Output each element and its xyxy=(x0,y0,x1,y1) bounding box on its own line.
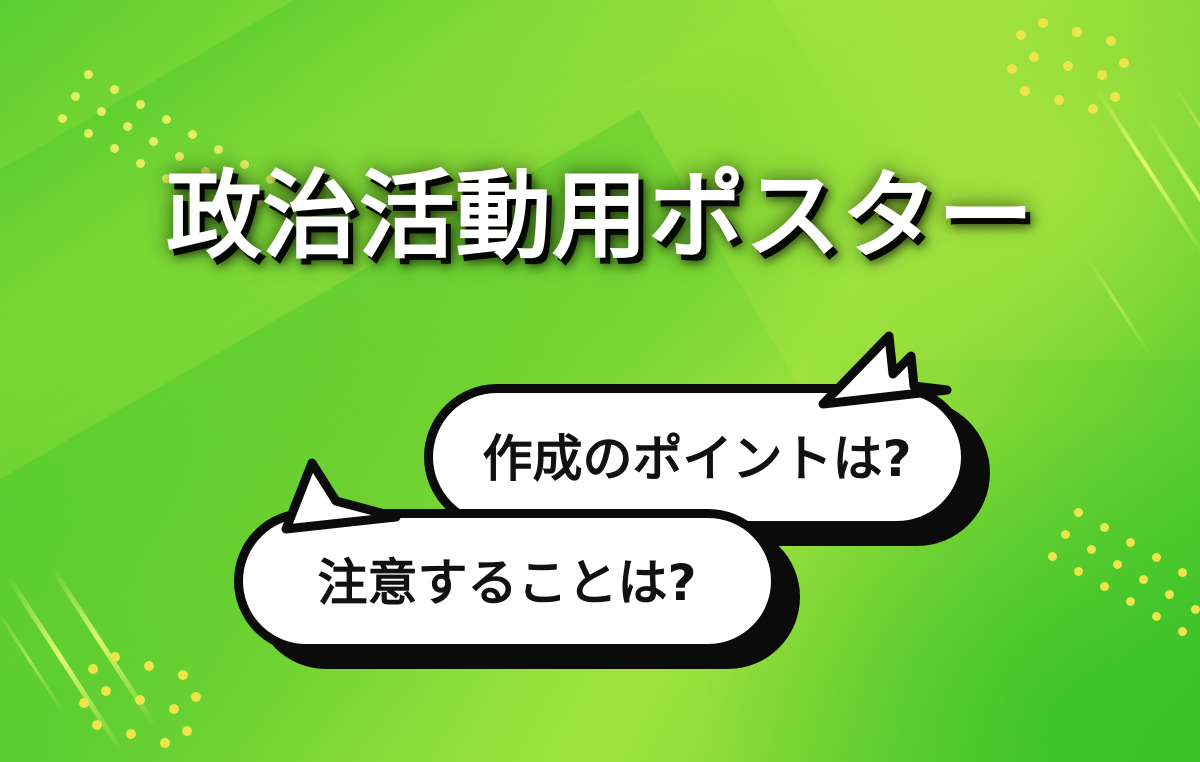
decorative-dot xyxy=(1152,553,1161,562)
decorative-dot xyxy=(136,159,145,168)
decorative-dot xyxy=(1087,545,1096,554)
decorative-dot xyxy=(110,85,119,94)
decorative-dot xyxy=(1074,567,1083,576)
decorative-dot xyxy=(71,92,80,101)
bubble-2-label: 注意することは? xyxy=(317,543,696,615)
decorative-dot xyxy=(136,100,145,109)
decorative-dot xyxy=(1100,523,1109,532)
decorative-dot xyxy=(1072,27,1082,37)
decorative-dot xyxy=(1029,52,1039,62)
decorative-dot xyxy=(149,137,158,146)
decorative-dot xyxy=(1061,530,1070,539)
decorative-dot xyxy=(1126,597,1135,606)
decorative-dot xyxy=(162,115,171,124)
decorative-dot xyxy=(1054,95,1064,105)
decorative-dot xyxy=(1020,86,1030,96)
decorative-dot xyxy=(1152,612,1161,621)
decorative-dot xyxy=(188,130,197,139)
decorative-dot xyxy=(1126,538,1135,547)
bubble-1-tail-icon xyxy=(815,330,955,410)
bubble-1-label: 作成のポイントは? xyxy=(482,419,911,491)
decorative-dot xyxy=(214,145,223,154)
decorative-dot xyxy=(84,70,93,79)
decorative-dot xyxy=(92,720,102,730)
decorative-dot xyxy=(97,107,106,116)
decorative-dot xyxy=(135,695,145,705)
bubble-2-tail-icon xyxy=(276,455,406,535)
decorative-dot xyxy=(101,686,111,696)
decorative-dot xyxy=(1191,605,1200,614)
decorative-dot xyxy=(84,129,93,138)
decorative-dot xyxy=(1063,61,1073,71)
decorative-dot xyxy=(110,144,119,153)
decorative-dot xyxy=(1048,552,1057,561)
decorative-dot xyxy=(1110,92,1120,102)
decorative-dot xyxy=(1139,575,1148,584)
decorative-dot xyxy=(144,661,154,671)
decorative-dot xyxy=(1165,590,1174,599)
decorative-dot xyxy=(123,122,132,131)
poster-canvas: 政治活動用ポスター 作成のポイントは? 注意することは? xyxy=(0,0,1200,762)
decorative-dot xyxy=(191,692,201,702)
decorative-dot xyxy=(1100,582,1109,591)
decorative-dot xyxy=(1119,58,1129,68)
decorative-dot xyxy=(110,652,120,662)
decorative-dot xyxy=(126,729,136,739)
decorative-dot xyxy=(1178,627,1187,636)
decorative-dot xyxy=(1074,508,1083,517)
decorative-dot xyxy=(58,114,67,123)
decorative-dot xyxy=(182,726,192,736)
decorative-dot xyxy=(1178,568,1187,577)
page-title: 政治活動用ポスター xyxy=(0,168,1200,264)
decorative-dot xyxy=(1113,560,1122,569)
decorative-dot xyxy=(1038,18,1048,28)
